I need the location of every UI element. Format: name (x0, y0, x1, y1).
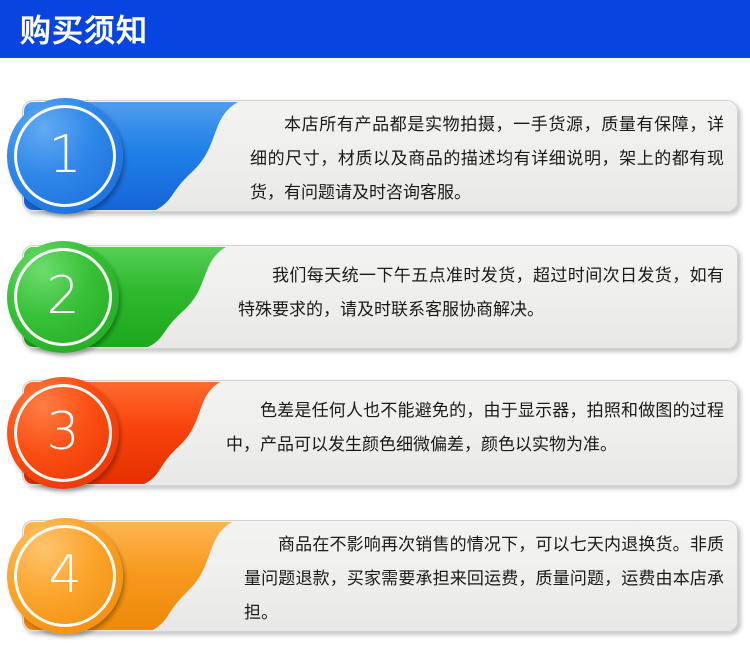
badge-number: 2 (7, 241, 119, 353)
badge-number: 3 (7, 377, 119, 489)
notice-section-1: 关于 产品 1 本店所有产品都是实物拍摄，一手货源，质量有保障，详细的尺寸，材质… (0, 92, 750, 220)
badge-number: 4 (7, 518, 123, 634)
notice-section-4: 关于 退货 4 商品在不影响再次销售的情况下，可以七天内退换货。非质量问题退款，… (0, 512, 750, 640)
badge-number: 1 (7, 98, 123, 214)
section-body-text: 我们每天统一下午五点准时发货，超过时间次日发货，如有特殊要求的，请及时联系客服协… (238, 259, 724, 327)
section-number-badge: 3 (7, 377, 119, 489)
section-number-badge: 1 (7, 98, 123, 214)
notice-section-2: 关于 发货 2 我们每天统一下午五点准时发货，超过时间次日发货，如有特殊要求的，… (0, 237, 750, 357)
page-title: 购买须知 (20, 6, 148, 51)
section-body-text: 本店所有产品都是实物拍摄，一手货源，质量有保障，详细的尺寸，材质以及商品的描述均… (250, 108, 724, 210)
section-number-badge: 2 (7, 241, 119, 353)
section-number-badge: 4 (7, 518, 123, 634)
notice-section-3: 关于 色差 3 色差是任何人也不能避免的，由于显示器，拍照和做图的过程中，产品可… (0, 372, 750, 494)
section-body-text: 商品在不影响再次销售的情况下，可以七天内退换货。非质量问题退款，买家需要承担来回… (244, 528, 724, 630)
section-body-text: 色差是任何人也不能避免的，由于显示器，拍照和做图的过程中，产品可以发生颜色细微偏… (226, 394, 724, 462)
page-header: 购买须知 (0, 0, 750, 58)
